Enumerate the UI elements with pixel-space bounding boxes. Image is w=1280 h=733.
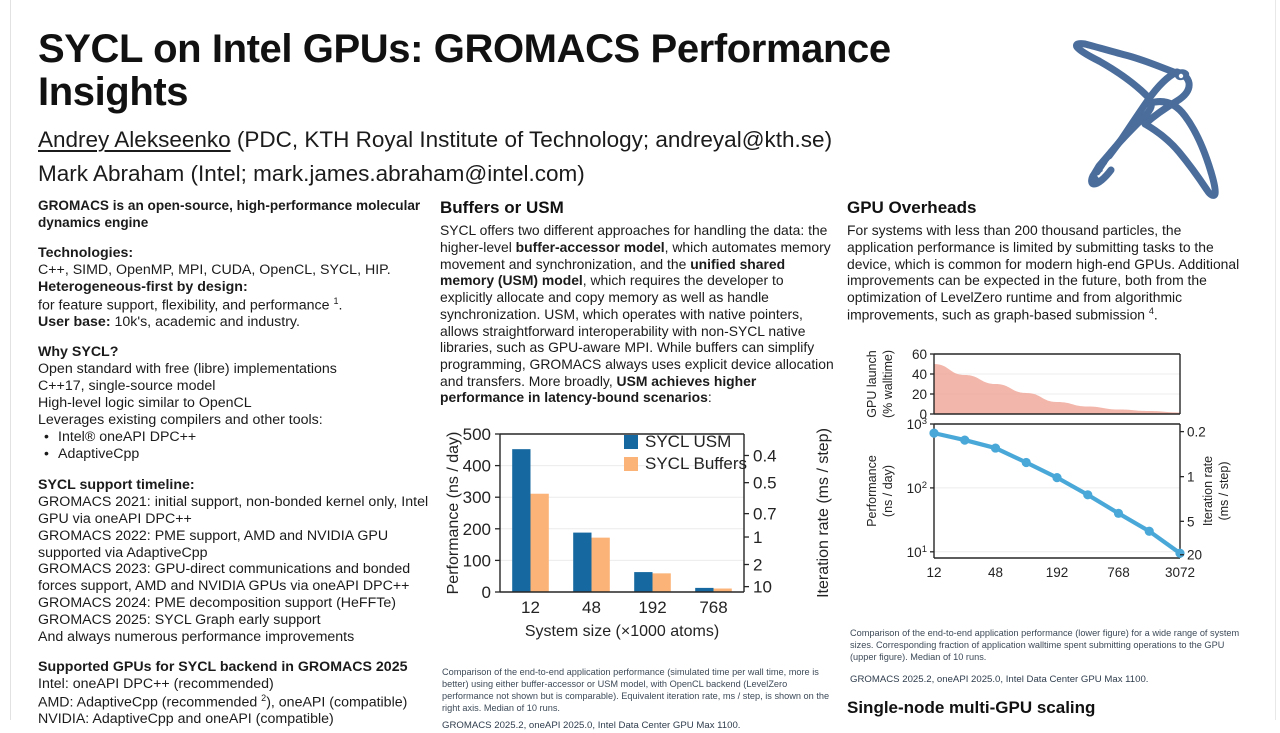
author-line-2: Mark Abraham (Intel; mark.james.abraham@…: [38, 157, 1048, 191]
svg-text:GPU launch: GPU launch: [865, 350, 879, 417]
why-sycl-label: Why SYCL?: [38, 344, 118, 360]
timeline-entry: GROMACS 2021: initial support, non-bonde…: [38, 494, 430, 528]
page-title: SYCL on Intel GPUs: GROMACS Performance …: [38, 28, 1048, 114]
technologies-text: C++, SIMD, OpenMP, MPI, CUDA, OpenCL, SY…: [38, 262, 430, 279]
timeline-entry: And always numerous performance improvem…: [38, 629, 430, 646]
column-middle: Buffers or USM SYCL offers two different…: [440, 198, 838, 406]
timeline-entry: GROMACS 2023: GPU-direct communications …: [38, 561, 430, 595]
svg-text:Iteration rate (ms / step): Iteration rate (ms / step): [815, 428, 832, 598]
column-right: GPU Overheads For systems with less than…: [847, 198, 1247, 323]
svg-text:1: 1: [1187, 470, 1195, 485]
svg-text:3072: 3072: [1165, 565, 1195, 580]
author-name-primary: Andrey Alekseenko: [38, 127, 231, 152]
svg-text:300: 300: [463, 488, 491, 507]
heterogeneous-text: for feature support, flexibility, and pe…: [38, 296, 430, 315]
poster-header: SYCL on Intel GPUs: GROMACS Performance …: [38, 28, 1048, 191]
svg-text:5: 5: [1187, 514, 1195, 529]
why-sycl-line: C++17, single-source model: [38, 378, 430, 395]
svg-text:60: 60: [912, 347, 927, 362]
userbase-line: User base: 10k's, academic and industry.: [38, 314, 430, 331]
supported-gpus-intel: Intel: oneAPI DPC++ (recommended): [38, 676, 430, 693]
gpu-overheads-paragraph: For systems with less than 200 thousand …: [847, 222, 1247, 323]
svg-text:10: 10: [753, 578, 772, 597]
svg-text:102: 102: [907, 480, 927, 496]
timeline-label: SYCL support timeline:: [38, 477, 195, 493]
why-sycl-bullet-list: Intel® oneAPI DPC++ AdaptiveCpp: [38, 429, 430, 464]
section-heading-multi-gpu-scaling-wrap: Single-node multi-GPU scaling: [847, 698, 1095, 722]
svg-text:0.4: 0.4: [753, 446, 777, 465]
chart-buffers-vs-usm: 01002003004005000.40.50.712101248192768S…: [442, 420, 840, 650]
section-heading-gpu-overheads: GPU Overheads: [847, 198, 1247, 218]
page-edge-right: [1275, 0, 1276, 720]
technologies-block: Technologies: C++, SIMD, OpenMP, MPI, CU…: [38, 245, 430, 331]
svg-text:System size (×1000 atoms): System size (×1000 atoms): [525, 623, 719, 640]
section-heading-buffers-or-usm: Buffers or USM: [440, 198, 838, 218]
gromacs-bird-logo: [1055, 14, 1255, 214]
poster-canvas: SYCL on Intel GPUs: GROMACS Performance …: [0, 0, 1280, 720]
svg-text:192: 192: [638, 598, 666, 617]
svg-text:101: 101: [907, 544, 927, 560]
timeline-entry: GROMACS 2025: SYCL Graph early support: [38, 612, 430, 629]
svg-text:2: 2: [753, 556, 762, 575]
sycl-timeline-block: SYCL support timeline: GROMACS 2021: ini…: [38, 477, 430, 646]
svg-text:40: 40: [912, 367, 927, 382]
chart-caption-footer-buffers-vs-usm: GROMACS 2025.2, oneAPI 2025.0, Intel Dat…: [442, 720, 838, 733]
intro-lede: GROMACS is an open-source, high-performa…: [38, 198, 430, 231]
svg-text:768: 768: [699, 598, 727, 617]
column-left: GROMACS is an open-source, high-performa…: [38, 198, 430, 728]
svg-text:20: 20: [912, 387, 927, 402]
svg-text:400: 400: [463, 457, 491, 476]
author-affiliation-primary: (PDC, KTH Royal Institute of Technology;…: [231, 127, 832, 152]
why-sycl-line: Open standard with free (libre) implemen…: [38, 361, 430, 378]
svg-text:Performance: Performance: [865, 455, 879, 527]
chart-gpu-overheads-stack: 0204060GPU launch(% walltime)1031021010.…: [850, 346, 1246, 611]
svg-text:Iteration rate: Iteration rate: [1201, 456, 1215, 526]
svg-text:192: 192: [1046, 565, 1069, 580]
svg-text:(% walltime): (% walltime): [881, 350, 895, 418]
heterogeneous-label: Heterogeneous-first by design:: [38, 279, 248, 295]
svg-text:SYCL USM: SYCL USM: [645, 432, 731, 451]
chart-caption-footer-gpu-overheads: GROMACS 2025.2, oneAPI 2025.0, Intel Dat…: [850, 674, 1242, 687]
supported-gpus-block: Supported GPUs for SYCL backend in GROMA…: [38, 659, 430, 728]
page-edge-left: [10, 0, 11, 720]
svg-text:0: 0: [482, 583, 491, 602]
svg-text:48: 48: [582, 598, 601, 617]
supported-gpus-label: Supported GPUs for SYCL backend in GROMA…: [38, 659, 407, 675]
svg-text:500: 500: [463, 425, 491, 444]
why-sycl-line: Leverages existing compilers and other t…: [38, 412, 430, 429]
svg-text:(ms / step): (ms / step): [1217, 461, 1231, 520]
svg-text:0.2: 0.2: [1187, 425, 1206, 440]
svg-text:0.7: 0.7: [753, 505, 777, 524]
svg-text:100: 100: [463, 551, 491, 570]
svg-text:12: 12: [521, 598, 540, 617]
technologies-label: Technologies:: [38, 245, 133, 261]
timeline-entry: GROMACS 2022: PME support, AMD and NVIDI…: [38, 528, 430, 562]
section-heading-multi-gpu-scaling: Single-node multi-GPU scaling: [847, 698, 1095, 718]
svg-text:20: 20: [1187, 548, 1202, 563]
svg-text:768: 768: [1107, 565, 1130, 580]
why-sycl-line: High-level logic similar to OpenCL: [38, 395, 430, 412]
svg-text:Performance (ns / day): Performance (ns / day): [445, 432, 462, 595]
svg-text:1: 1: [753, 528, 762, 547]
chart-caption-gpu-overheads: Comparison of the end-to-end application…: [850, 628, 1242, 664]
chart-caption-buffers-vs-usm: Comparison of the end-to-end application…: [442, 667, 838, 715]
svg-text:12: 12: [926, 565, 941, 580]
buffers-usm-paragraph: SYCL offers two different approaches for…: [440, 222, 838, 406]
svg-text:103: 103: [907, 416, 927, 432]
svg-text:(ns / day): (ns / day): [881, 465, 895, 517]
svg-text:SYCL Buffers: SYCL Buffers: [645, 454, 747, 473]
userbase-text: 10k's, academic and industry.: [111, 314, 300, 330]
timeline-entry: GROMACS 2024: PME decomposition support …: [38, 595, 430, 612]
svg-text:0.5: 0.5: [753, 474, 777, 493]
author-line-1: Andrey Alekseenko (PDC, KTH Royal Instit…: [38, 123, 1048, 157]
userbase-label: User base:: [38, 314, 111, 330]
list-item: AdaptiveCpp: [58, 446, 430, 464]
svg-text:48: 48: [988, 565, 1003, 580]
why-sycl-block: Why SYCL? Open standard with free (libre…: [38, 344, 430, 464]
svg-text:200: 200: [463, 520, 491, 539]
list-item: Intel® oneAPI DPC++: [58, 429, 430, 447]
supported-gpus-amd: AMD: AdaptiveCpp (recommended 2), oneAPI…: [38, 693, 430, 712]
